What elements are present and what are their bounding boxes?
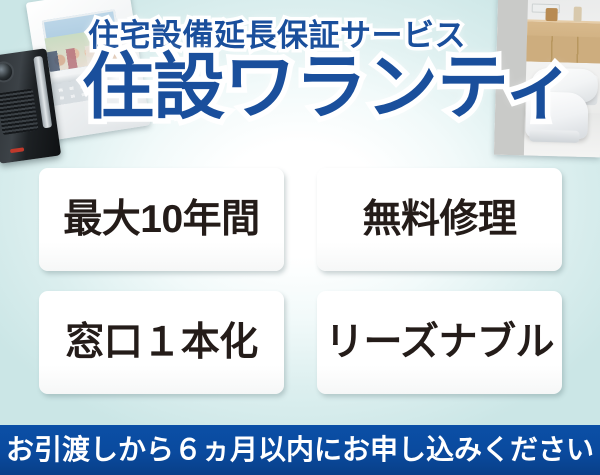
feature-label: 無料修理 xyxy=(362,200,516,239)
cta-text: お引渡しから６ヵ月以内にお申し込みください xyxy=(6,436,594,464)
feature-box-max-10-years: 最大10年間 xyxy=(39,168,284,271)
banner-subtitle: 住宅設備延長保証サービス xyxy=(88,20,508,51)
feature-box-free-repair: 無料修理 xyxy=(317,168,562,271)
feature-box-single-contact: 窓口１本化 xyxy=(39,291,284,394)
feature-label: 窓口１本化 xyxy=(65,323,258,362)
feature-box-group: 最大10年間 無料修理 窓口１本化 リーズナブル xyxy=(0,163,600,413)
cta-banner: お引渡しから６ヵ月以内にお申し込みください xyxy=(0,425,600,475)
headline-group: 住宅設備延長保証サービス 住設ワランティ xyxy=(0,0,600,150)
feature-box-reasonable: リーズナブル xyxy=(317,291,562,394)
service-banner: 住宅設備延長保証サービス 住設ワランティ 最大10年間 無料修理 窓口１本化 リ… xyxy=(0,0,600,475)
feature-label: 最大10年間 xyxy=(63,200,259,239)
feature-label: リーズナブル xyxy=(325,323,554,362)
banner-title: 住設ワランティ xyxy=(82,52,542,124)
